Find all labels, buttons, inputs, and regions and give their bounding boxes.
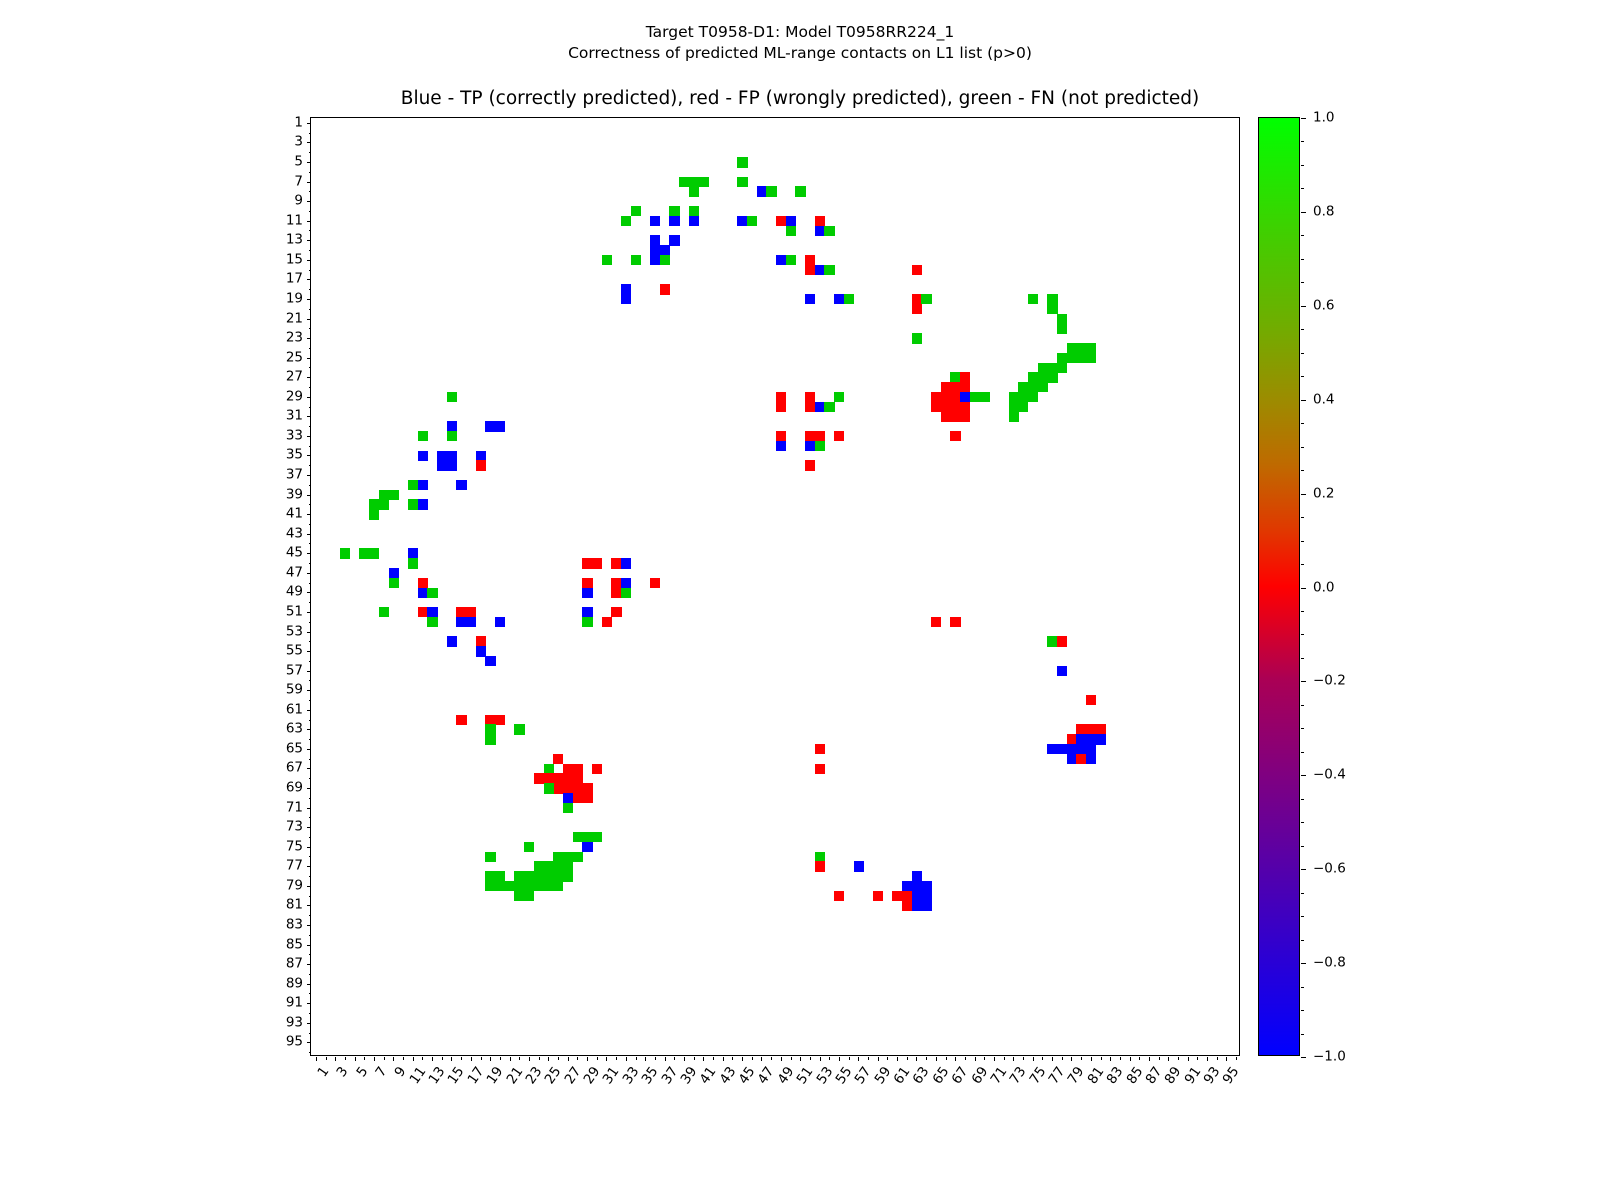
x-tick-mark — [868, 1057, 869, 1060]
y-tick-mark — [309, 798, 312, 799]
y-tick-mark — [309, 1013, 312, 1014]
contact-cell — [660, 284, 670, 294]
y-tick-mark — [309, 211, 312, 212]
y-tick-label: 77 — [286, 860, 303, 874]
y-tick-mark — [307, 671, 311, 672]
y-tick-mark — [309, 328, 312, 329]
axes-title-legend: Blue - TP (correctly predicted), red - F… — [0, 88, 1600, 109]
x-tick-mark — [665, 1057, 666, 1061]
contact-cell — [689, 216, 699, 226]
contact-cell — [563, 871, 573, 881]
contact-cell — [921, 901, 931, 911]
x-tick-mark — [926, 1057, 927, 1060]
y-tick-mark — [307, 945, 311, 946]
colorbar-minor-tick — [1301, 705, 1304, 706]
colorbar-tick-label: −0.4 — [1313, 769, 1346, 783]
x-tick-mark — [761, 1057, 762, 1061]
x-tick-mark — [481, 1057, 482, 1060]
x-tick-mark — [684, 1057, 685, 1061]
y-tick-label: 33 — [286, 429, 303, 443]
x-tick-mark — [703, 1057, 704, 1061]
y-tick-label: 59 — [286, 683, 303, 697]
x-tick-mark — [355, 1057, 356, 1061]
colorbar-minor-tick — [1301, 893, 1304, 894]
contact-cell — [912, 333, 922, 343]
y-tick-mark — [309, 739, 312, 740]
y-tick-label: 27 — [286, 370, 303, 384]
contact-cell — [1028, 294, 1038, 304]
x-tick-mark — [984, 1057, 985, 1060]
contact-map-axes[interactable]: 1133557799111113131515171719192121232325… — [310, 117, 1240, 1056]
suptitle-line-2: Correctness of predicted ML-range contac… — [0, 43, 1600, 64]
contact-cell — [379, 607, 389, 617]
contact-cell — [1057, 636, 1067, 646]
colorbar-minor-tick — [1301, 658, 1304, 659]
y-tick-mark — [307, 377, 311, 378]
y-tick-mark — [309, 954, 312, 955]
contact-cell — [689, 186, 699, 196]
colorbar-tick-mark — [1301, 306, 1306, 307]
contact-cell — [1086, 353, 1096, 363]
contact-cell — [1028, 392, 1038, 402]
colorbar-tick-label: 1.0 — [1313, 111, 1334, 125]
colorbar-minor-tick — [1301, 188, 1304, 189]
y-tick-mark — [309, 348, 312, 349]
x-tick-mark — [364, 1057, 365, 1060]
colorbar-minor-tick — [1301, 1010, 1304, 1011]
contact-cell — [669, 235, 679, 245]
colorbar-minor-tick — [1301, 634, 1304, 635]
colorbar-minor-tick — [1301, 329, 1304, 330]
contact-cell — [418, 480, 428, 490]
x-tick-mark — [771, 1057, 772, 1060]
y-tick-mark — [307, 397, 311, 398]
y-tick-mark — [309, 700, 312, 701]
colorbar-tick-mark — [1301, 400, 1306, 401]
colorbar-minor-tick — [1301, 681, 1304, 682]
contact-cell — [815, 764, 825, 774]
colorbar-tick-mark — [1301, 118, 1306, 119]
x-tick-mark — [548, 1057, 549, 1061]
y-tick-label: 11 — [286, 214, 303, 228]
y-tick-label: 57 — [286, 664, 303, 678]
y-tick-mark — [307, 905, 311, 906]
x-tick-mark — [1188, 1057, 1189, 1061]
contact-cell — [1086, 754, 1096, 764]
x-tick-mark — [1226, 1057, 1227, 1061]
y-tick-mark — [307, 984, 311, 985]
contact-cell — [854, 861, 864, 871]
x-tick-mark — [723, 1057, 724, 1061]
y-tick-mark — [307, 710, 311, 711]
y-tick-mark — [309, 387, 312, 388]
y-tick-mark — [307, 495, 311, 496]
x-tick-mark — [694, 1057, 695, 1060]
contact-cell — [602, 617, 612, 627]
contact-cell — [369, 548, 379, 558]
contact-cell — [544, 783, 554, 793]
colorbar-minor-tick — [1301, 447, 1304, 448]
x-tick-mark — [791, 1057, 792, 1060]
y-tick-label: 39 — [286, 488, 303, 502]
x-tick-mark — [326, 1057, 327, 1060]
y-tick-mark — [309, 465, 312, 466]
y-tick-mark — [309, 230, 312, 231]
x-tick-mark — [946, 1057, 947, 1060]
contact-cell — [1047, 372, 1057, 382]
x-tick-mark — [1101, 1057, 1102, 1060]
y-tick-label: 31 — [286, 410, 303, 424]
x-tick-mark — [907, 1057, 908, 1060]
x-tick-mark — [994, 1057, 995, 1061]
contact-cell — [960, 411, 970, 421]
contact-cell — [844, 294, 854, 304]
y-tick-label: 69 — [286, 781, 303, 795]
y-tick-label: 1 — [294, 116, 303, 130]
x-tick-label: 5 — [355, 1065, 371, 1080]
colorbar-minor-tick — [1301, 611, 1304, 612]
x-tick-mark — [422, 1057, 423, 1060]
x-tick-mark — [471, 1057, 472, 1061]
y-tick-label: 15 — [286, 253, 303, 267]
y-tick-mark — [309, 720, 312, 721]
x-tick-mark — [732, 1057, 733, 1060]
colorbar-minor-tick — [1301, 141, 1304, 142]
contact-cell — [805, 460, 815, 470]
x-tick-mark — [1178, 1057, 1179, 1060]
x-tick-mark — [1023, 1057, 1024, 1060]
x-tick-mark — [829, 1057, 830, 1060]
x-tick-mark — [1071, 1057, 1072, 1061]
y-tick-mark — [307, 162, 311, 163]
contact-cell — [766, 186, 776, 196]
contact-cell — [737, 157, 747, 167]
colorbar-minor-tick — [1301, 423, 1304, 424]
x-tick-mark — [316, 1057, 317, 1061]
y-tick-mark — [307, 534, 311, 535]
x-tick-mark — [887, 1057, 888, 1060]
y-tick-mark — [307, 201, 311, 202]
y-tick-mark — [307, 240, 311, 241]
y-tick-label: 81 — [286, 899, 303, 913]
colorbar-tick-label: 0.0 — [1313, 581, 1334, 595]
x-tick-mark — [461, 1057, 462, 1060]
y-tick-label: 53 — [286, 625, 303, 639]
y-tick-mark — [307, 319, 311, 320]
contact-cell — [495, 715, 505, 725]
contact-cell — [369, 509, 379, 519]
y-tick-mark — [307, 651, 311, 652]
contact-cell — [650, 578, 660, 588]
contact-cell — [379, 499, 389, 509]
y-tick-mark — [307, 182, 311, 183]
colorbar-tick-mark — [1301, 588, 1306, 589]
x-tick-mark — [374, 1057, 375, 1061]
colorbar[interactable]: 1.00.80.60.40.20.0−0.2−0.4−0.6−0.8−1.0 — [1258, 117, 1300, 1056]
x-tick-mark — [335, 1057, 336, 1061]
contact-cell — [582, 842, 592, 852]
x-tick-mark — [1197, 1057, 1198, 1060]
colorbar-minor-tick — [1301, 775, 1304, 776]
contact-cell — [834, 392, 844, 402]
colorbar-minor-tick — [1301, 517, 1304, 518]
x-tick-label: 83 — [1105, 1065, 1126, 1087]
x-tick-label: 67 — [950, 1065, 971, 1087]
x-tick-mark — [577, 1057, 578, 1060]
x-tick-mark — [1159, 1057, 1160, 1060]
y-tick-mark — [309, 856, 312, 857]
contact-cell — [912, 304, 922, 314]
y-tick-label: 23 — [286, 331, 303, 345]
y-tick-label: 71 — [286, 801, 303, 815]
y-tick-mark — [307, 279, 311, 280]
y-tick-label: 85 — [286, 938, 303, 952]
y-tick-label: 25 — [286, 351, 303, 365]
y-tick-label: 51 — [286, 605, 303, 619]
contact-cell — [786, 226, 796, 236]
y-tick-label: 65 — [286, 742, 303, 756]
contact-cell — [476, 460, 486, 470]
x-tick-mark — [432, 1057, 433, 1061]
x-tick-mark — [1052, 1057, 1053, 1061]
colorbar-tick-mark — [1301, 963, 1306, 964]
contact-cell — [776, 402, 786, 412]
x-tick-mark — [384, 1057, 385, 1060]
contact-cell — [418, 431, 428, 441]
y-tick-mark — [309, 759, 312, 760]
x-tick-mark — [965, 1057, 966, 1060]
colorbar-minor-tick — [1301, 564, 1304, 565]
colorbar-minor-tick — [1301, 541, 1304, 542]
y-tick-mark — [307, 514, 311, 515]
y-tick-mark — [307, 142, 311, 143]
colorbar-minor-tick — [1301, 846, 1304, 847]
contact-cell — [786, 255, 796, 265]
y-tick-mark — [307, 416, 311, 417]
colorbar-minor-tick — [1301, 235, 1304, 236]
y-tick-mark — [309, 680, 312, 681]
contact-cell — [737, 177, 747, 187]
y-tick-mark — [309, 309, 312, 310]
y-tick-mark — [307, 1023, 311, 1024]
x-tick-label: 3 — [335, 1065, 351, 1080]
x-tick-mark — [442, 1057, 443, 1060]
y-tick-mark — [307, 592, 311, 593]
suptitle-line-1: Target T0958-D1: Model T0958RR224_1 — [0, 22, 1600, 43]
y-tick-mark — [309, 622, 312, 623]
contact-cell — [466, 617, 476, 627]
x-tick-mark — [655, 1057, 656, 1060]
x-tick-mark — [568, 1057, 569, 1061]
contact-cell — [776, 441, 786, 451]
contact-cell — [621, 294, 631, 304]
y-tick-label: 37 — [286, 468, 303, 482]
colorbar-tick-label: 0.4 — [1313, 393, 1334, 407]
y-tick-mark — [309, 250, 312, 251]
contact-cell — [950, 431, 960, 441]
colorbar-minor-tick — [1301, 165, 1304, 166]
contact-cell — [1038, 382, 1048, 392]
contact-cell — [418, 499, 428, 509]
contact-cell — [563, 803, 573, 813]
x-tick-mark — [587, 1057, 588, 1061]
y-tick-mark — [307, 475, 311, 476]
y-tick-label: 47 — [286, 566, 303, 580]
contact-cell — [418, 451, 428, 461]
contact-cell — [1018, 402, 1028, 412]
x-tick-label: 7 — [374, 1065, 390, 1080]
y-tick-mark — [307, 573, 311, 574]
contact-cell — [602, 255, 612, 265]
colorbar-minor-tick — [1301, 822, 1304, 823]
contact-cell — [621, 588, 631, 598]
contact-cell — [582, 588, 592, 598]
y-tick-mark — [309, 876, 312, 877]
y-tick-label: 35 — [286, 449, 303, 463]
y-tick-mark — [307, 808, 311, 809]
x-tick-mark — [1013, 1057, 1014, 1061]
x-tick-mark — [858, 1057, 859, 1061]
x-tick-mark — [1149, 1057, 1150, 1061]
x-tick-mark — [529, 1057, 530, 1061]
contact-cell — [573, 852, 583, 862]
contact-cell — [427, 588, 437, 598]
x-tick-label: 35 — [640, 1065, 661, 1087]
x-tick-mark — [1168, 1057, 1169, 1061]
y-tick-label: 5 — [294, 155, 303, 169]
x-tick-mark — [1236, 1057, 1237, 1060]
y-tick-label: 41 — [286, 507, 303, 521]
contact-cell — [1086, 695, 1096, 705]
contact-cell — [815, 441, 825, 451]
colorbar-tick-mark — [1301, 212, 1306, 213]
contact-cell — [1057, 363, 1067, 373]
y-tick-mark — [307, 690, 311, 691]
x-tick-mark — [674, 1057, 675, 1060]
y-tick-label: 29 — [286, 390, 303, 404]
colorbar-minor-tick — [1301, 353, 1304, 354]
y-tick-mark — [309, 270, 312, 271]
colorbar-minor-tick — [1301, 916, 1304, 917]
y-tick-mark — [307, 768, 311, 769]
contact-cell — [553, 881, 563, 891]
y-tick-mark — [307, 847, 311, 848]
y-tick-mark — [309, 426, 312, 427]
y-tick-mark — [307, 749, 311, 750]
x-tick-mark — [839, 1057, 840, 1061]
y-tick-mark — [307, 632, 311, 633]
x-tick-mark — [626, 1057, 627, 1061]
colorbar-minor-tick — [1301, 470, 1304, 471]
y-tick-label: 43 — [286, 527, 303, 541]
x-tick-mark — [1139, 1057, 1140, 1060]
colorbar-tick-label: −0.8 — [1313, 956, 1346, 970]
contact-cell — [1057, 323, 1067, 333]
x-tick-mark — [742, 1057, 743, 1061]
x-tick-mark — [393, 1057, 394, 1061]
colorbar-tick-label: −0.6 — [1313, 862, 1346, 876]
x-tick-mark — [936, 1057, 937, 1061]
x-tick-mark — [403, 1057, 404, 1060]
contact-cell — [514, 724, 524, 734]
y-tick-mark — [307, 338, 311, 339]
y-tick-label: 55 — [286, 644, 303, 658]
contact-cell — [611, 607, 621, 617]
y-tick-mark — [309, 563, 312, 564]
colorbar-tick-label: −1.0 — [1313, 1050, 1346, 1064]
y-tick-mark — [309, 974, 312, 975]
contact-cell — [950, 617, 960, 627]
contact-cell — [447, 392, 457, 402]
colorbar-minor-tick — [1301, 282, 1304, 283]
contact-cell — [524, 891, 534, 901]
x-tick-mark — [1207, 1057, 1208, 1061]
y-tick-mark — [307, 436, 311, 437]
x-tick-mark — [636, 1057, 637, 1060]
x-tick-mark — [510, 1057, 511, 1061]
y-tick-mark — [309, 191, 312, 192]
colorbar-minor-tick — [1301, 376, 1304, 377]
contact-cell — [340, 548, 350, 558]
y-tick-label: 75 — [286, 840, 303, 854]
contact-cell — [1009, 411, 1019, 421]
colorbar-minor-tick — [1301, 940, 1304, 941]
colorbar-minor-tick — [1301, 728, 1304, 729]
y-tick-mark — [307, 612, 311, 613]
contact-cell — [524, 842, 534, 852]
y-tick-mark — [309, 778, 312, 779]
x-tick-mark — [1004, 1057, 1005, 1060]
contact-cell — [621, 216, 631, 226]
contact-cell — [631, 255, 641, 265]
contact-cell — [824, 402, 834, 412]
y-tick-mark — [309, 133, 312, 134]
contact-cell — [921, 294, 931, 304]
contact-cell — [408, 558, 418, 568]
colorbar-minor-tick — [1301, 799, 1304, 800]
y-tick-label: 63 — [286, 723, 303, 737]
x-tick-mark — [597, 1057, 598, 1060]
y-tick-mark — [309, 485, 312, 486]
y-tick-label: 61 — [286, 703, 303, 717]
figure-root: Target T0958-D1: Model T0958RR224_1 Corr… — [0, 0, 1600, 1200]
contact-cell — [669, 216, 679, 226]
contact-cell — [456, 480, 466, 490]
y-tick-label: 45 — [286, 547, 303, 561]
y-tick-mark — [309, 915, 312, 916]
x-tick-mark — [800, 1057, 801, 1061]
contact-cell — [815, 744, 825, 754]
y-tick-mark — [307, 788, 311, 789]
colorbar-minor-tick — [1301, 1034, 1304, 1035]
x-tick-mark — [539, 1057, 540, 1060]
contact-cell — [834, 431, 844, 441]
y-tick-mark — [309, 896, 312, 897]
y-tick-label: 17 — [286, 273, 303, 287]
colorbar-tick-mark — [1301, 869, 1306, 870]
x-tick-mark — [849, 1057, 850, 1060]
contact-cell — [834, 891, 844, 901]
contact-cell — [447, 636, 457, 646]
x-tick-mark — [878, 1057, 879, 1061]
x-tick-mark — [1130, 1057, 1131, 1061]
contact-cell — [447, 431, 457, 441]
contact-cell — [582, 617, 592, 627]
colorbar-minor-tick — [1301, 259, 1304, 260]
contact-cell — [824, 265, 834, 275]
y-tick-mark — [307, 455, 311, 456]
y-tick-mark — [309, 993, 312, 994]
